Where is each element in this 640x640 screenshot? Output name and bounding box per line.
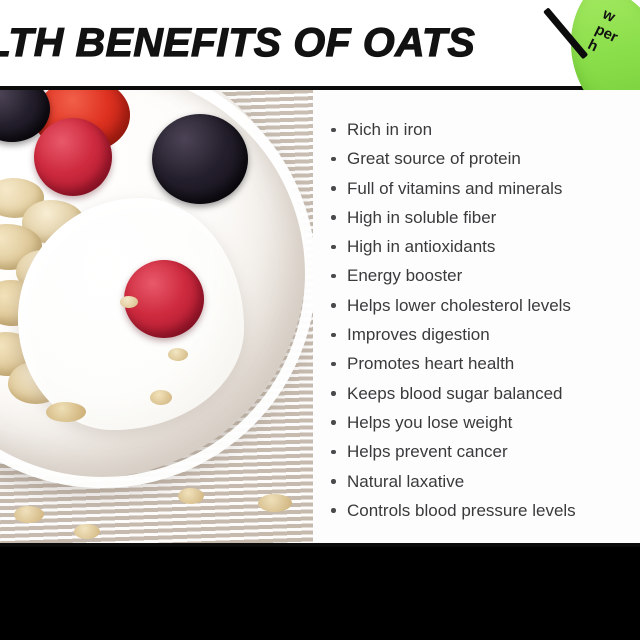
list-item: High in antioxidants: [330, 235, 640, 258]
screenshot-root: LTH BENEFITS OF OATS w per h: [0, 0, 640, 640]
oats-bowl-photo: [0, 90, 313, 545]
list-item: Full of vitamins and minerals: [330, 177, 640, 200]
list-item: Promotes heart health: [330, 352, 640, 375]
list-item: Great source of protein: [330, 147, 640, 170]
list-item: Helps lower cholesterol levels: [330, 294, 640, 317]
list-item: Controls blood pressure levels: [330, 499, 640, 522]
blackberry: [152, 114, 248, 204]
benefits-panel: Rich in iron Great source of protein Ful…: [313, 90, 640, 545]
list-item: Natural laxative: [330, 470, 640, 493]
raspberry: [34, 118, 112, 196]
header-band: LTH BENEFITS OF OATS: [0, 0, 640, 88]
list-item: Helps prevent cancer: [330, 440, 640, 463]
infographic-card: LTH BENEFITS OF OATS w per h: [0, 0, 640, 547]
oat-flake: [120, 296, 138, 308]
list-item: Keeps blood sugar balanced: [330, 382, 640, 405]
oat-flake: [150, 390, 172, 405]
oat-flake: [46, 402, 86, 422]
oat-flake: [178, 488, 204, 504]
oat-flake: [14, 506, 44, 523]
list-item: High in soluble fiber: [330, 206, 640, 229]
oat-flake: [168, 348, 188, 361]
list-item: Rich in iron: [330, 118, 640, 141]
page-title: LTH BENEFITS OF OATS: [0, 21, 475, 65]
list-item: Energy booster: [330, 264, 640, 287]
list-item: Helps you lose weight: [330, 411, 640, 434]
list-item: Improves digestion: [330, 323, 640, 346]
oat-flake: [258, 494, 292, 512]
benefits-list: Rich in iron Great source of protein Ful…: [330, 118, 640, 528]
oat-flake: [74, 524, 100, 539]
bottom-letterbox: [0, 547, 640, 640]
